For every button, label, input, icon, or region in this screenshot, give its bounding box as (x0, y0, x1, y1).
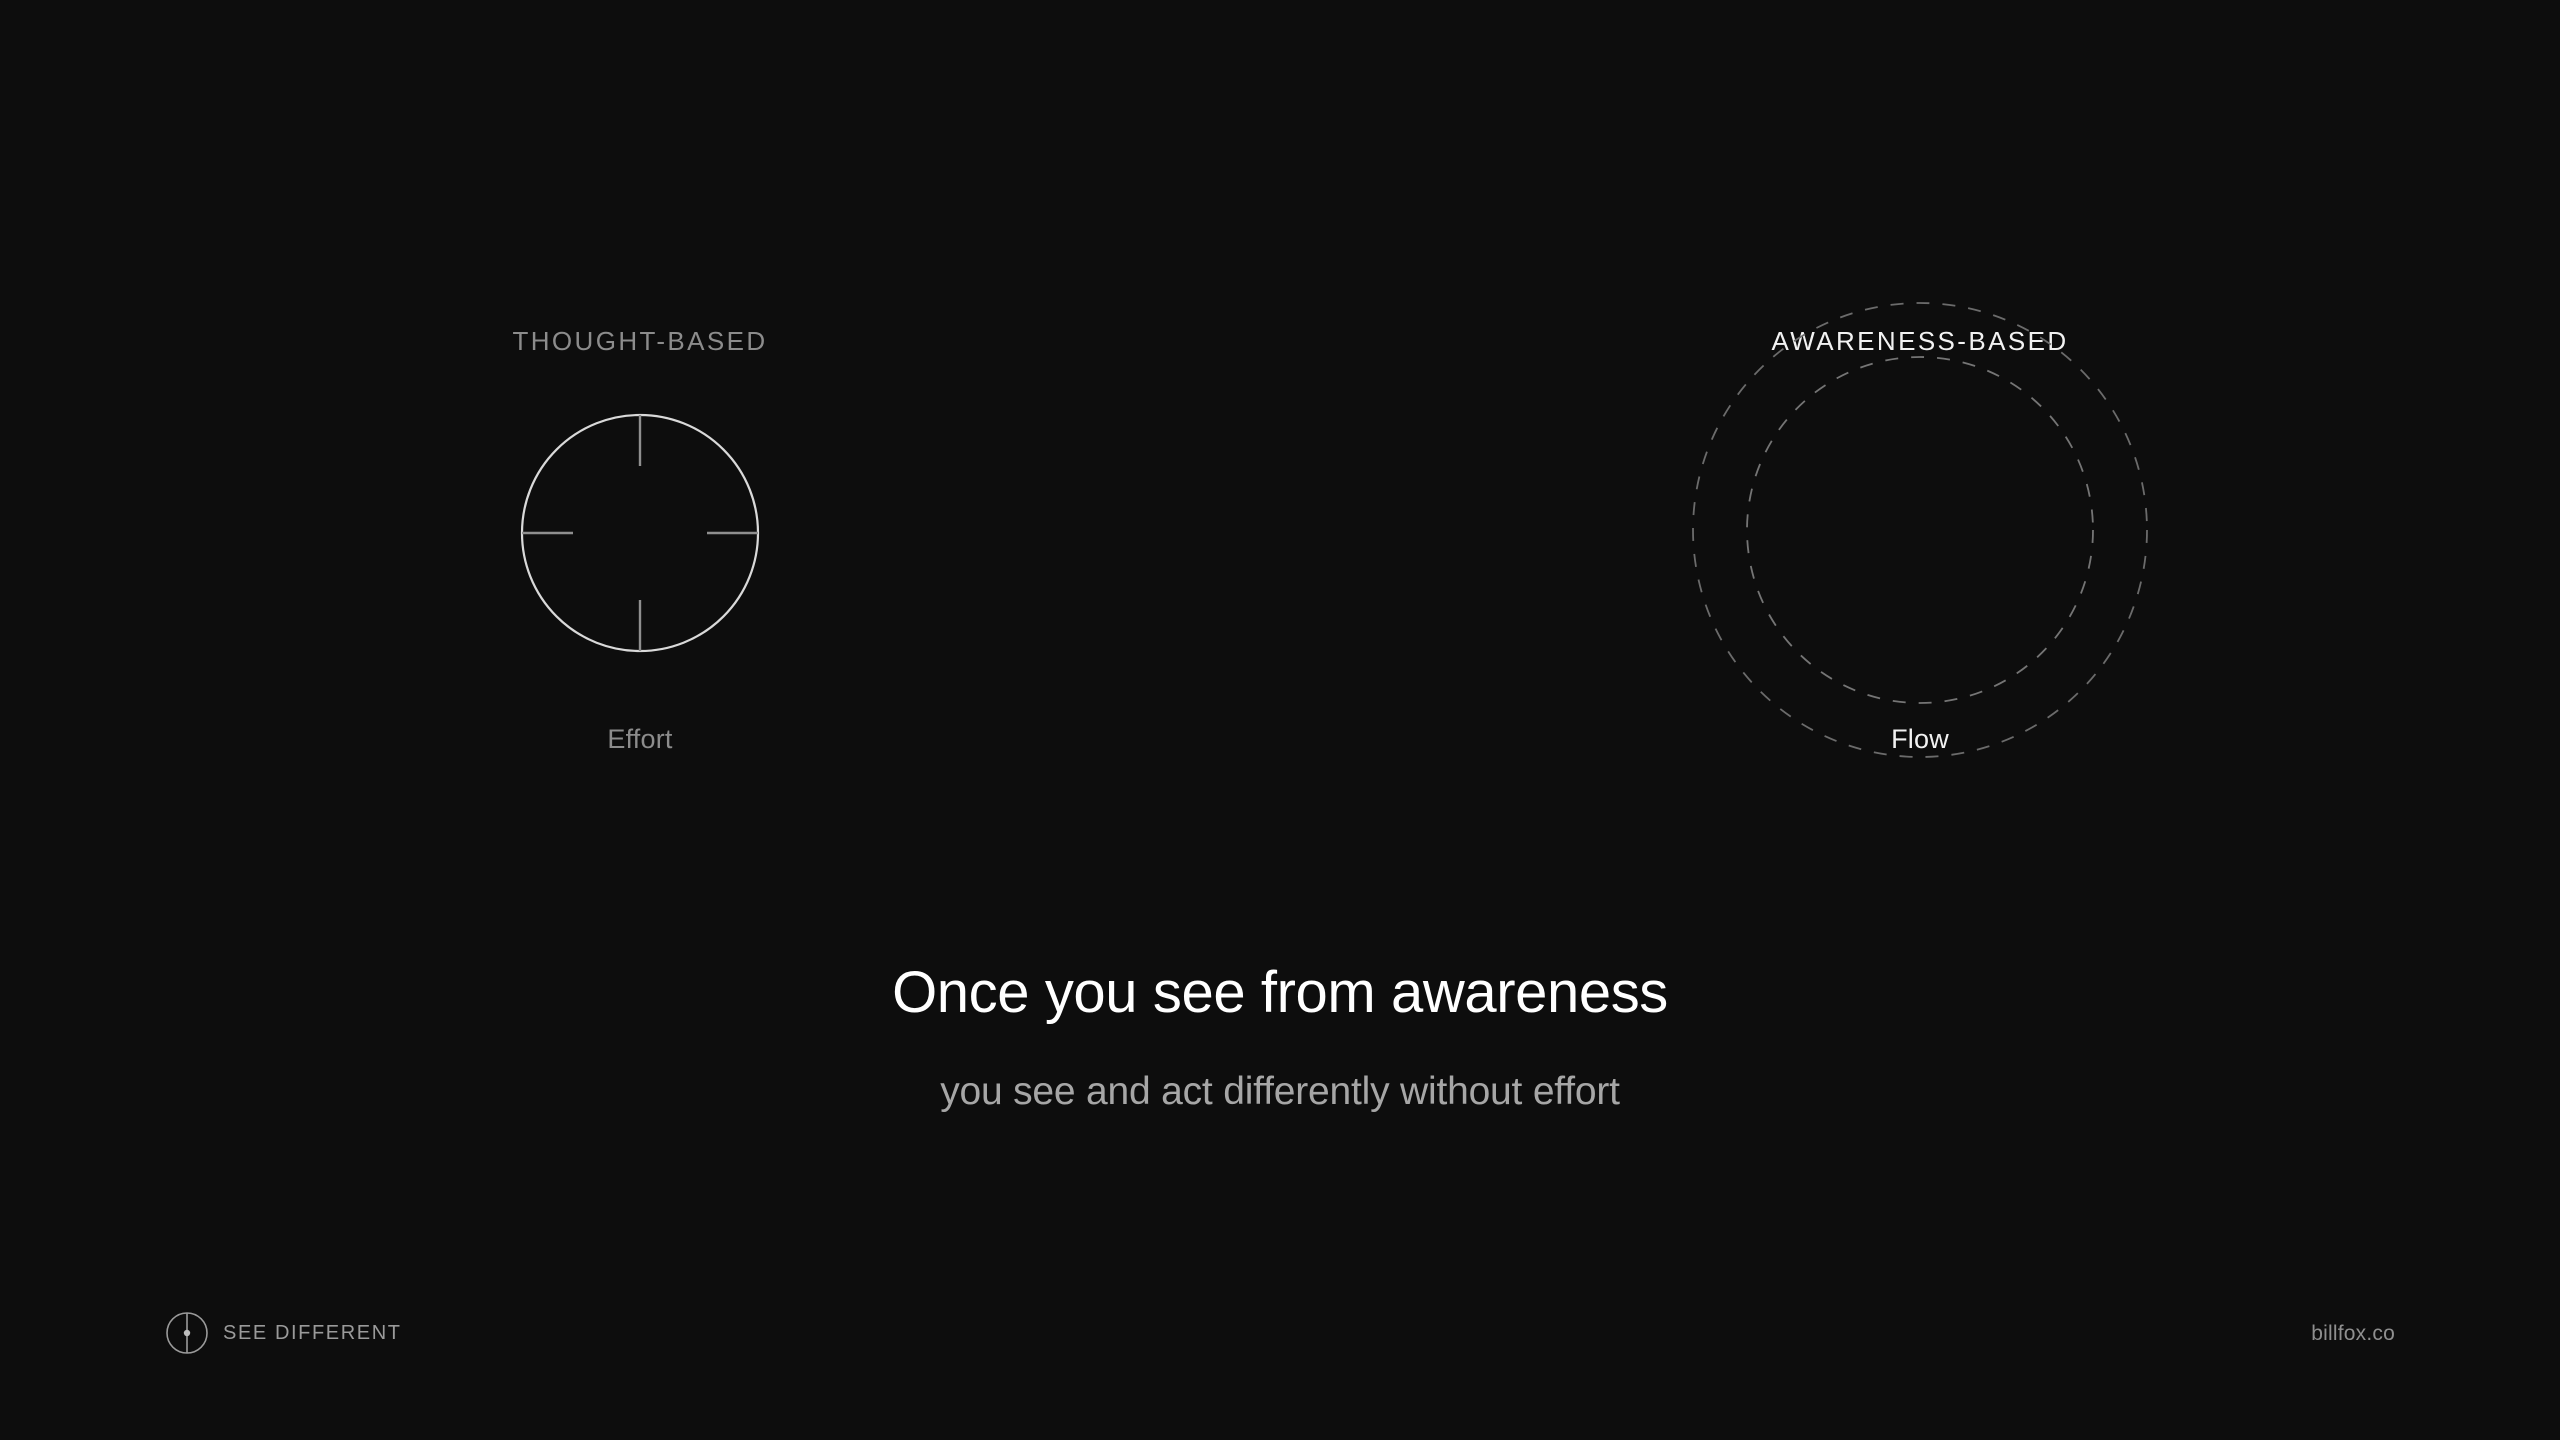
concentric-dashed-rings-icon (1680, 290, 2160, 770)
brand-label: SEE DIFFERENT (223, 1322, 402, 1345)
page-subtitle: you see and act differently without effo… (0, 1069, 2560, 1116)
message-block: Once you see from awareness you see and … (0, 960, 2560, 1115)
page-title: Once you see from awareness (0, 960, 2560, 1027)
panel-right-caption-bottom: Flow (1280, 724, 2560, 755)
slide-canvas: THOUGHT-BASED Effort AWARENESS-BASED Flo… (0, 0, 2560, 1440)
panel-left-caption-top: THOUGHT-BASED (0, 326, 1280, 357)
compass-dot-icon (165, 1311, 209, 1355)
panel-left-caption-bottom: Effort (0, 724, 1280, 755)
site-url[interactable]: billfox.co (2311, 1322, 2395, 1346)
brand-lockup[interactable]: SEE DIFFERENT (165, 1311, 402, 1355)
crosshair-reticle-icon (510, 403, 770, 663)
panel-awareness-based: AWARENESS-BASED Flow (1280, 0, 2560, 1440)
panel-thought-based: THOUGHT-BASED Effort (0, 0, 1280, 1440)
